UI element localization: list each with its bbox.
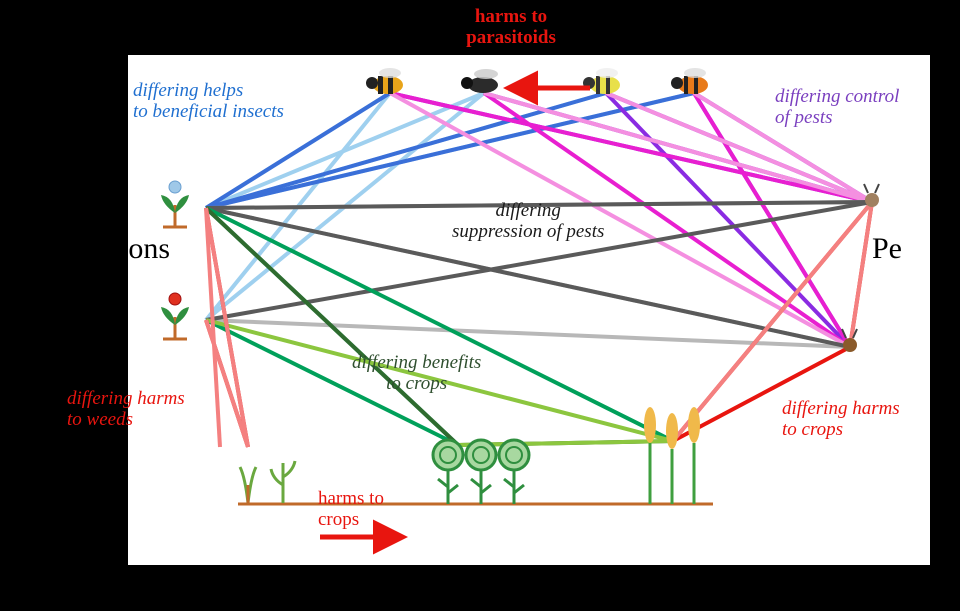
- side-label-right: Pe: [872, 232, 902, 266]
- label-differing-benefits-to-crops: differing benefits to crops: [352, 352, 481, 395]
- label-differing-harms-to-crops: differing harms to crops: [782, 398, 900, 441]
- label-differing-harms-to-weeds: differing harms to weeds: [67, 388, 185, 431]
- label-differing-suppression-of-pests: differing suppression of pests: [452, 200, 604, 243]
- diagram-canvas: [128, 55, 930, 565]
- arrow-layer: [128, 55, 930, 565]
- label-harms-to-parasitoids: harms to parasitoids: [466, 6, 556, 49]
- diagram-stage: harms to parasitoids differing helps to …: [0, 0, 960, 611]
- label-differing-helps-beneficial-insects: differing helps to beneficial insects: [133, 80, 284, 123]
- label-differing-control-of-pests: differing control of pests: [775, 86, 899, 129]
- side-label-left: ions: [120, 232, 170, 266]
- label-harms-to-crops: harms to crops: [318, 488, 384, 531]
